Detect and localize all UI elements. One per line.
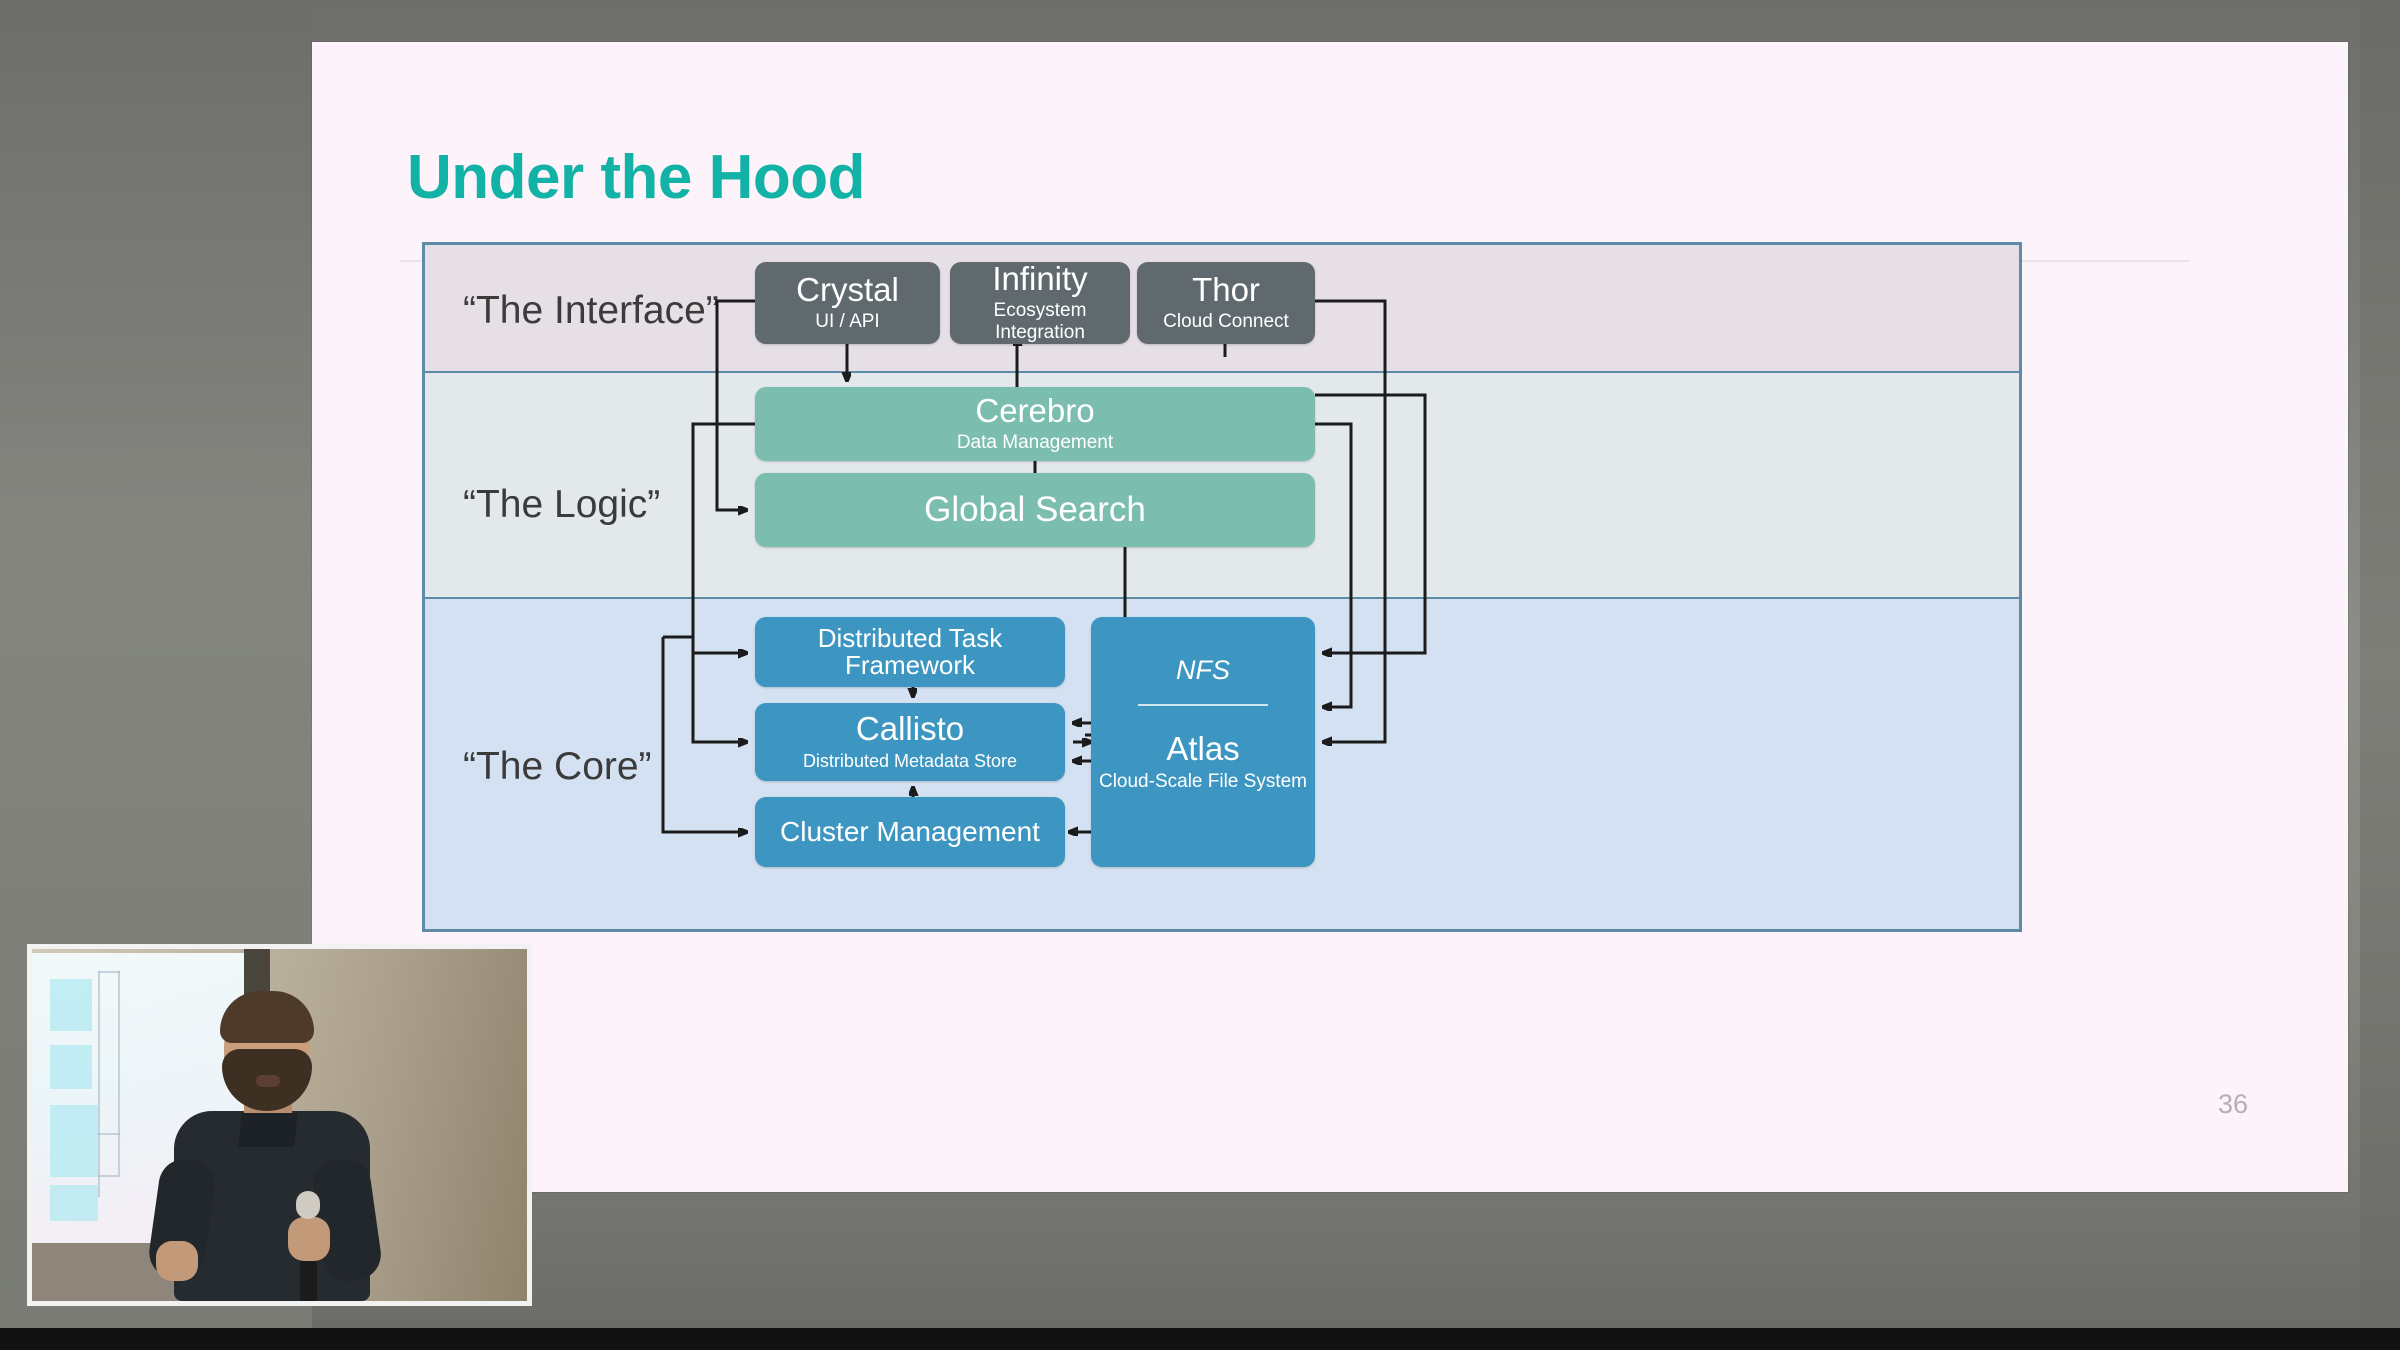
node-infinity[interactable]: Infinity Ecosystem Integration: [950, 262, 1130, 344]
presenter-hand-left: [156, 1241, 198, 1281]
node-atlas-title: Atlas: [1166, 732, 1239, 767]
node-atlas-nfs-label: NFS: [1176, 655, 1230, 686]
page-title: Under the Hood: [407, 147, 865, 209]
presenter-figure: [152, 991, 412, 1301]
architecture-diagram: “The Interface” “The Logic” “The Core”: [422, 242, 2022, 932]
node-cerebro-subtitle: Data Management: [957, 432, 1113, 454]
node-callisto-subtitle: Distributed Metadata Store: [803, 751, 1017, 772]
microphone-head: [296, 1191, 320, 1219]
slide-page-number: 36: [2218, 1089, 2248, 1120]
node-global-search-title: Global Search: [924, 492, 1146, 529]
node-callisto[interactable]: Callisto Distributed Metadata Store: [755, 703, 1065, 781]
node-cluster-management-title: Cluster Management: [780, 817, 1040, 846]
room-backdrop-right: [2360, 0, 2400, 1328]
node-cerebro[interactable]: Cerebro Data Management: [755, 387, 1315, 461]
node-callisto-title: Callisto: [856, 712, 964, 747]
node-cerebro-title: Cerebro: [975, 394, 1094, 429]
node-distributed-task-framework[interactable]: Distributed Task Framework: [755, 617, 1065, 687]
node-atlas[interactable]: NFS Atlas Cloud-Scale File System: [1091, 617, 1315, 867]
node-atlas-divider: [1138, 704, 1268, 706]
node-crystal-subtitle: UI / API: [815, 311, 879, 333]
recording-stage: Under the Hood “The Interface” “The Logi…: [0, 0, 2400, 1350]
presenter-hand-right: [288, 1217, 330, 1261]
node-thor-title: Thor: [1192, 273, 1260, 308]
node-infinity-title: Infinity: [992, 262, 1087, 297]
node-crystal[interactable]: Crystal UI / API: [755, 262, 940, 344]
node-thor-subtitle: Cloud Connect: [1163, 311, 1289, 333]
node-crystal-title: Crystal: [796, 273, 899, 308]
presentation-slide: Under the Hood “The Interface” “The Logi…: [312, 42, 2348, 1192]
node-cluster-management[interactable]: Cluster Management: [755, 797, 1065, 867]
node-global-search[interactable]: Global Search: [755, 473, 1315, 547]
node-thor[interactable]: Thor Cloud Connect: [1137, 262, 1315, 344]
presenter-video-overlay[interactable]: [27, 944, 532, 1306]
node-infinity-subtitle: Ecosystem Integration: [950, 300, 1130, 344]
node-atlas-subtitle: Cloud-Scale File System: [1099, 771, 1307, 793]
node-distributed-task-framework-title: Distributed Task Framework: [755, 625, 1065, 680]
